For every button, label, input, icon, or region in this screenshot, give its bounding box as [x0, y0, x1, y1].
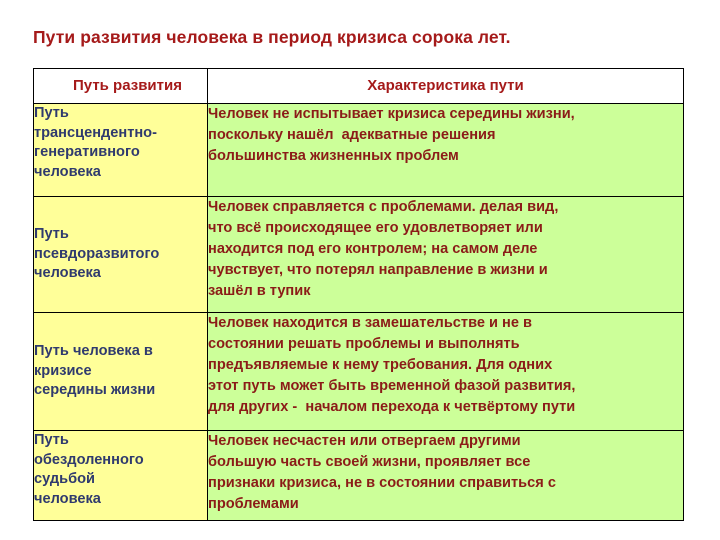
table-row: Путь обездоленного судьбой человека Чело… — [34, 431, 684, 521]
table-header: Путь развития Характеристика пути — [34, 69, 684, 104]
table-header-row: Путь развития Характеристика пути — [34, 69, 684, 104]
cell-description-text: Человек справляется с проблемами. делая … — [208, 197, 683, 302]
cell-path-text: Путь человека в кризисе середины жизни — [34, 342, 207, 401]
page-title: Пути развития человека в период кризиса … — [33, 26, 693, 48]
cell-description-text: Человек не испытывает кризиса середины ж… — [208, 104, 683, 167]
cell-path: Путь человека в кризисе середины жизни — [34, 313, 208, 431]
paths-table-container: Путь развития Характеристика пути Путь т… — [33, 68, 683, 521]
cell-path-text: Путь псевдоразвитого человека — [34, 225, 207, 284]
cell-path-text: Путь обездоленного судьбой человека — [34, 431, 207, 509]
column-header-description: Характеристика пути — [208, 69, 684, 104]
table-body: Путь трансцендентно- генеративного челов… — [34, 104, 684, 521]
paths-table: Путь развития Характеристика пути Путь т… — [33, 68, 684, 521]
table-row: Путь псевдоразвитого человека Человек сп… — [34, 197, 684, 313]
table-row: Путь трансцендентно- генеративного челов… — [34, 104, 684, 197]
cell-description-text: Человек находится в замешательстве и не … — [208, 313, 683, 418]
cell-path: Путь трансцендентно- генеративного челов… — [34, 104, 208, 197]
column-header-path: Путь развития — [34, 69, 208, 104]
cell-path-text: Путь трансцендентно- генеративного челов… — [34, 104, 207, 182]
cell-description-text: Человек несчастен или отвергаем другими … — [208, 431, 683, 515]
cell-description: Человек находится в замешательстве и не … — [208, 313, 684, 431]
cell-description: Человек несчастен или отвергаем другими … — [208, 431, 684, 521]
slide: Пути развития человека в период кризиса … — [0, 0, 720, 540]
cell-description: Человек не испытывает кризиса середины ж… — [208, 104, 684, 197]
table-row: Путь человека в кризисе середины жизни Ч… — [34, 313, 684, 431]
cell-path: Путь обездоленного судьбой человека — [34, 431, 208, 521]
cell-path: Путь псевдоразвитого человека — [34, 197, 208, 313]
cell-description: Человек справляется с проблемами. делая … — [208, 197, 684, 313]
